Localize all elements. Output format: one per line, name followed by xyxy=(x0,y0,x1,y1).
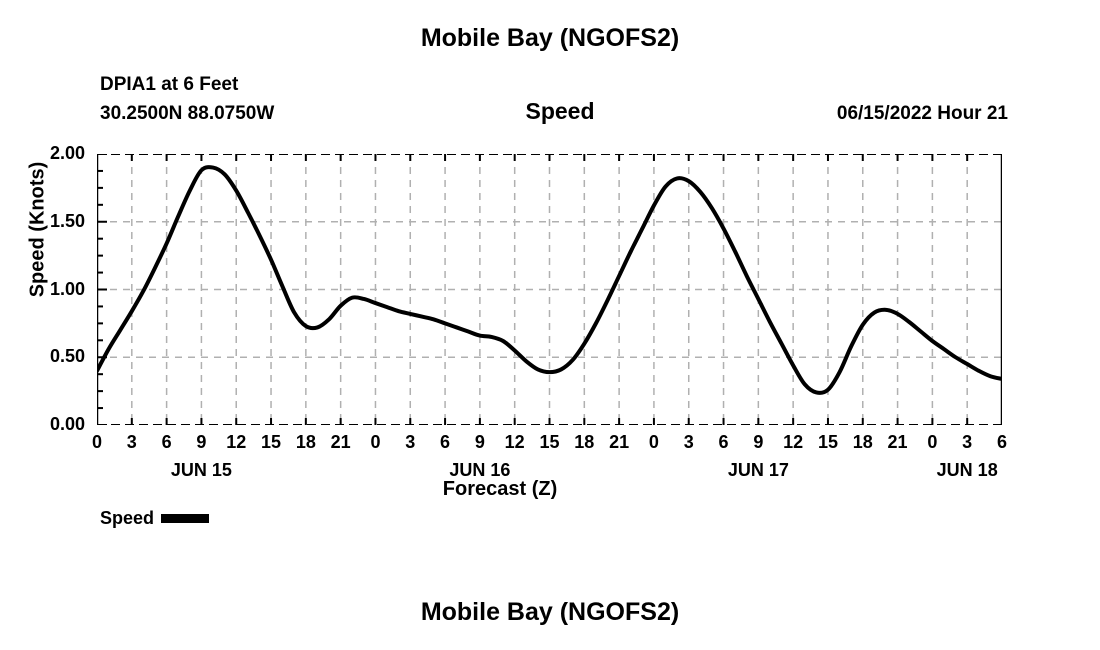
x-tick-label: 6 xyxy=(987,432,1017,453)
x-tick-label: 12 xyxy=(221,432,251,453)
x-tick-label: 0 xyxy=(82,432,112,453)
station-label: DPIA1 at 6 Feet xyxy=(100,74,238,96)
x-tick-label: 18 xyxy=(848,432,878,453)
x-tick-label: 18 xyxy=(291,432,321,453)
y-tick-label: 0.50 xyxy=(15,346,85,367)
x-tick-label: 18 xyxy=(569,432,599,453)
x-tick-label: 15 xyxy=(813,432,843,453)
x-tick-label: 0 xyxy=(917,432,947,453)
x-axis-day-label: JUN 15 xyxy=(141,460,261,481)
x-tick-label: 21 xyxy=(883,432,913,453)
x-tick-label: 6 xyxy=(709,432,739,453)
series-line-speed xyxy=(97,167,1002,393)
coordinates-label: 30.2500N 88.0750W xyxy=(100,103,274,125)
y-tick-label: 1.50 xyxy=(15,211,85,232)
x-tick-label: 0 xyxy=(360,432,390,453)
y-tick-label: 1.00 xyxy=(15,279,85,300)
x-tick-label: 3 xyxy=(395,432,425,453)
y-tick-label: 2.00 xyxy=(15,143,85,164)
chart-subtitle: Speed xyxy=(430,98,690,125)
legend-swatch-speed xyxy=(161,514,209,523)
x-tick-label: 6 xyxy=(152,432,182,453)
x-tick-label: 3 xyxy=(117,432,147,453)
x-tick-label: 9 xyxy=(465,432,495,453)
x-tick-label: 6 xyxy=(430,432,460,453)
x-axis-day-label: JUN 16 xyxy=(420,460,540,481)
x-tick-label: 9 xyxy=(186,432,216,453)
x-tick-label: 0 xyxy=(639,432,669,453)
page-title-bottom: Mobile Bay (NGOFS2) xyxy=(0,598,1100,627)
x-tick-label: 12 xyxy=(500,432,530,453)
x-tick-label: 12 xyxy=(778,432,808,453)
y-tick-label: 0.00 xyxy=(15,414,85,435)
x-tick-label: 21 xyxy=(604,432,634,453)
x-tick-label: 15 xyxy=(535,432,565,453)
x-axis-label: Forecast (Z) xyxy=(390,478,610,501)
x-tick-label: 21 xyxy=(326,432,356,453)
x-tick-label: 9 xyxy=(743,432,773,453)
chart-page: Mobile Bay (NGOFS2) DPIA1 at 6 Feet 30.2… xyxy=(0,0,1100,650)
plot-area xyxy=(97,154,1002,425)
legend-label-speed: Speed xyxy=(100,508,154,529)
x-tick-label: 15 xyxy=(256,432,286,453)
speed-line-chart xyxy=(97,154,1002,425)
x-tick-label: 3 xyxy=(952,432,982,453)
page-title-top: Mobile Bay (NGOFS2) xyxy=(0,24,1100,53)
x-axis-day-label: JUN 18 xyxy=(907,460,1027,481)
x-axis-day-label: JUN 17 xyxy=(698,460,818,481)
legend: Speed xyxy=(100,508,209,529)
x-tick-label: 3 xyxy=(674,432,704,453)
forecast-datestamp: 06/15/2022 Hour 21 xyxy=(837,103,1008,125)
